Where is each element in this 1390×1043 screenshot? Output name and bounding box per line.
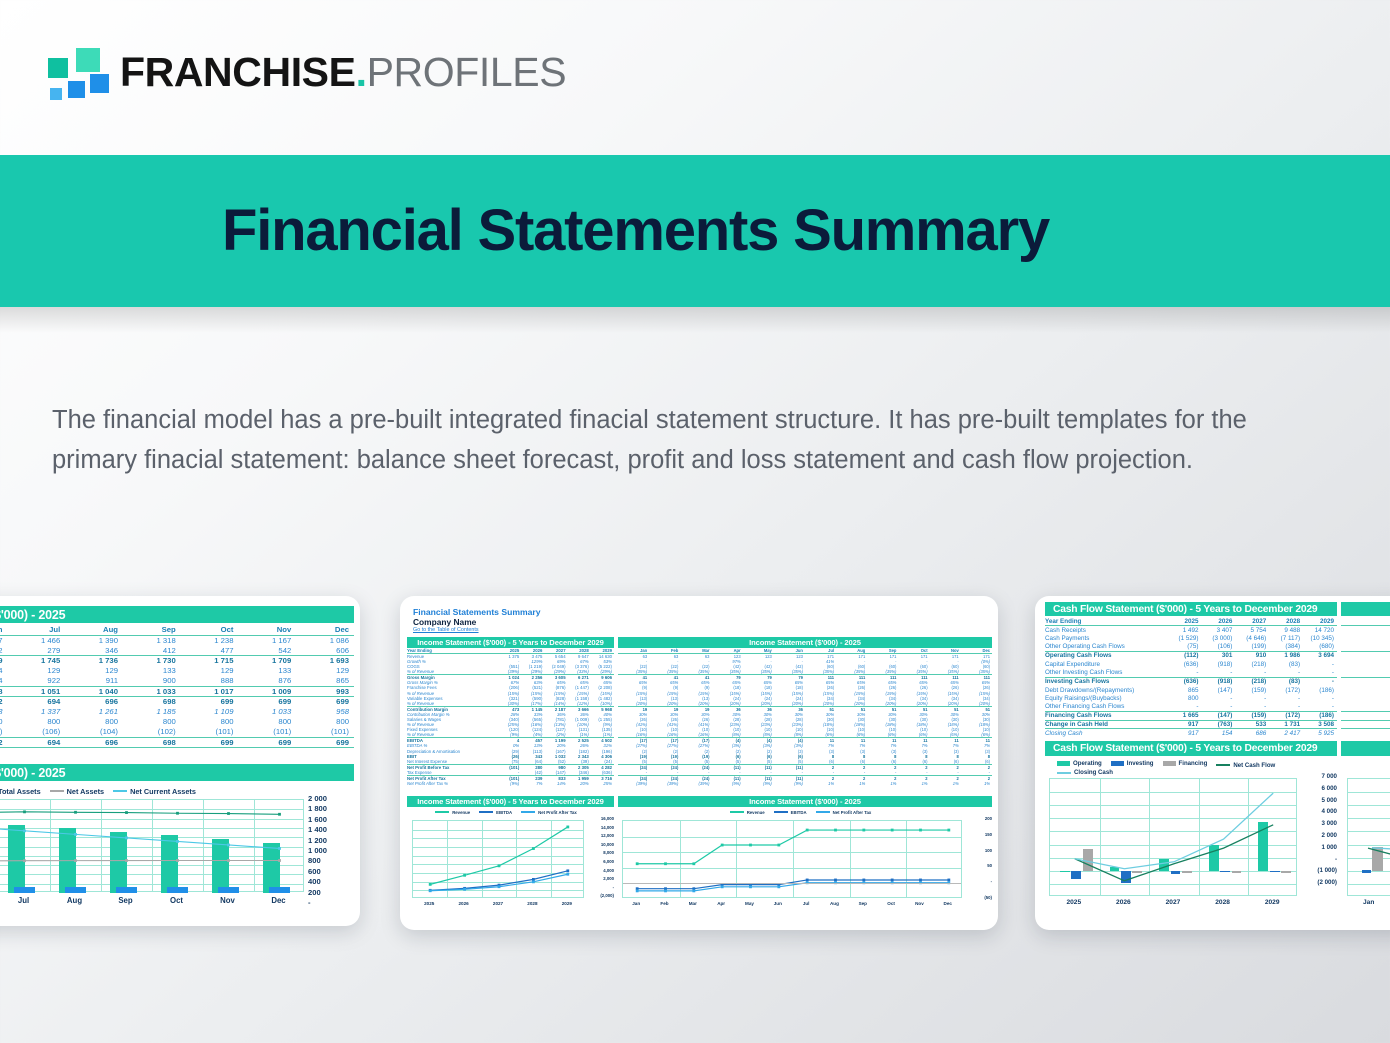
cash-flow-monthly-table: Jan32(47)(7)(22)(36)-(36)989800-1 7891 7… bbox=[1341, 617, 1390, 737]
legend-swatch bbox=[1216, 764, 1230, 766]
legend-label: Financing bbox=[1179, 760, 1208, 767]
table-cell: 25% bbox=[591, 781, 614, 786]
legend-label: Revenue bbox=[452, 810, 470, 815]
income-statement-5y-chart-legend: RevenueEBITDANet Profit After Tax bbox=[407, 809, 614, 815]
table-row: 1 731 bbox=[1341, 720, 1390, 729]
row-label: Net Profit After Tax % bbox=[407, 781, 498, 786]
table-cell: (101) bbox=[181, 727, 239, 737]
table-cell: Sep bbox=[123, 625, 181, 635]
axis-tick: 800 bbox=[308, 856, 352, 866]
table-cell: (186) bbox=[1303, 686, 1337, 695]
table-cell: (159) bbox=[1235, 712, 1269, 721]
series-layer bbox=[623, 821, 961, 897]
table-cell: 800 bbox=[1168, 694, 1202, 703]
legend-swatch bbox=[521, 811, 535, 813]
axis-tick: Feb bbox=[650, 901, 678, 906]
table-cell: 154 bbox=[1202, 729, 1236, 738]
table-row: 1 0451 0381 0511 0401 0331 0171 009993 bbox=[0, 686, 354, 696]
legend-item: EBITDA bbox=[774, 810, 807, 815]
balance-sheet-x-axis-labels: MayJunJulAugSepOctNovDec bbox=[0, 896, 304, 905]
franchise-profiles-logo-icon bbox=[48, 48, 110, 100]
table-cell: 694 bbox=[8, 737, 66, 747]
axis-tick: 2025 bbox=[1049, 899, 1099, 906]
income-statement-monthly-x-axis-labels: JanFebMarAprMayJunJulAugSepOctNovDec bbox=[622, 901, 962, 906]
table-cell: Jun bbox=[0, 625, 8, 635]
summary-sheet-title: Financial Statements Summary bbox=[413, 607, 541, 617]
cash-flow-y-axis-labels: 7 0006 0005 0004 0003 0002 0001 000-(1 0… bbox=[1301, 773, 1337, 891]
axis-tick: 2 000 bbox=[308, 794, 352, 804]
financial-summary-screenshot-card: Financial Statements Summary Company Nam… bbox=[400, 596, 998, 930]
table-cell: 1% bbox=[898, 781, 929, 786]
table-cell: 346 bbox=[65, 645, 123, 655]
axis-tick: Oct bbox=[877, 901, 905, 906]
axis-tick: - bbox=[586, 885, 614, 894]
table-cell: - bbox=[1235, 669, 1269, 678]
axis-tick: Apr bbox=[707, 901, 735, 906]
table-cell: (36) bbox=[1341, 660, 1390, 669]
table-cell: 3 407 bbox=[1202, 626, 1236, 635]
series-layer bbox=[1348, 779, 1390, 895]
table-cell: 32 bbox=[1341, 626, 1390, 635]
table-cell: 1 517 bbox=[0, 635, 8, 645]
row-label: Capital Expenditure bbox=[1045, 660, 1168, 669]
legend-swatch bbox=[816, 811, 830, 813]
table-cell: 1 729 bbox=[0, 656, 8, 666]
row-label: Closing Cash bbox=[1045, 729, 1168, 738]
legend-label: Net Profit After Tax bbox=[538, 810, 577, 815]
table-cell: - bbox=[1303, 669, 1337, 678]
table-cell: 412 bbox=[123, 645, 181, 655]
table-row: (36) bbox=[1341, 677, 1390, 686]
table-cell: 129 bbox=[8, 666, 66, 676]
table-cell: (384) bbox=[1269, 643, 1303, 652]
table-row: 703692694696698699699699 bbox=[0, 696, 354, 706]
axis-tick: 2029 bbox=[1247, 899, 1297, 906]
table-cell: 133 bbox=[239, 666, 297, 676]
table-cell: 1 731 bbox=[1341, 720, 1390, 729]
table-cell: 7% bbox=[521, 781, 544, 786]
table-cell: 699 bbox=[239, 737, 297, 747]
table-cell: 800 bbox=[8, 717, 66, 727]
axis-tick: 600 bbox=[308, 867, 352, 877]
table-cell: (147) bbox=[1202, 686, 1236, 695]
table-cell: 1% bbox=[961, 781, 992, 786]
axis-tick: 2 000 bbox=[1301, 832, 1337, 844]
table-cell: Oct bbox=[181, 625, 239, 635]
body-paragraph: The financial model has a pre-built inte… bbox=[52, 400, 1332, 480]
legend-item: Revenue bbox=[435, 810, 470, 815]
table-cell: 1 033 bbox=[239, 707, 297, 717]
row-label: Other Financing Cash Flows bbox=[1045, 703, 1168, 712]
legend-swatch bbox=[1057, 772, 1071, 774]
table-cell: 696 bbox=[65, 696, 123, 706]
axis-tick: (2,000) bbox=[586, 893, 614, 902]
axis-tick: 5 000 bbox=[1301, 797, 1337, 809]
table-cell: 3 508 bbox=[1303, 720, 1337, 729]
income-statement-monthly-chart-title: Income Statement ($'000) - 2025 bbox=[618, 796, 992, 807]
legend-swatch bbox=[1111, 761, 1124, 766]
table-cell: (83) bbox=[1269, 660, 1303, 669]
table-cell: Jan bbox=[1341, 617, 1390, 626]
table-cell: 1 986 bbox=[1269, 651, 1303, 660]
cash-flow-table: Year Ending20252026202720282029Cash Rece… bbox=[1045, 617, 1337, 737]
legend-item: Net Assets bbox=[50, 787, 104, 796]
table-cell: 698 bbox=[123, 696, 181, 706]
axis-tick: 2025 bbox=[412, 901, 446, 906]
income-statement-monthly-chart-plot bbox=[622, 820, 962, 898]
income-statement-5y-table: Year Ending20252026202720282029Revenue1 … bbox=[407, 648, 614, 786]
legend-item: Total Assets bbox=[0, 787, 41, 796]
table-cell: 1 715 bbox=[181, 656, 239, 666]
table-cell: 5 754 bbox=[1235, 626, 1269, 635]
cash-flow-chart-title-continued bbox=[1341, 741, 1390, 756]
axis-tick: 8,000 bbox=[586, 850, 614, 859]
cash-flow-monthly-chart-plot bbox=[1347, 778, 1390, 896]
table-cell: 1 789 bbox=[1341, 712, 1390, 721]
row-label: Cash Receipts bbox=[1045, 626, 1168, 635]
table-cell: (1 529) bbox=[1168, 634, 1202, 643]
table-cell: 692 bbox=[0, 696, 8, 706]
table-cell: (147) bbox=[1202, 712, 1236, 721]
table-cell: 910 bbox=[1235, 651, 1269, 660]
legend-label: EBITDA bbox=[496, 810, 512, 815]
table-row: Investing Cash Flows(636)(918)(218)(83)- bbox=[1045, 677, 1337, 686]
table-row: - bbox=[1341, 669, 1390, 678]
table-cell: 865 bbox=[1168, 686, 1202, 695]
table-cell: 699 bbox=[296, 696, 354, 706]
axis-tick: - bbox=[964, 879, 992, 895]
table-cell: (680) bbox=[1303, 643, 1337, 652]
cash-flow-table-title: Cash Flow Statement ($'000) - 5 Years to… bbox=[1045, 602, 1337, 616]
axis-tick: May bbox=[735, 901, 763, 906]
brand-header: FRANCHISE.PROFILES bbox=[0, 0, 1390, 148]
table-cell: 694 bbox=[8, 696, 66, 706]
table-cell: (102) bbox=[123, 727, 181, 737]
table-cell: 2028 bbox=[1269, 617, 1303, 626]
legend-item: Investing bbox=[1111, 760, 1154, 767]
axis-tick: (1 000) bbox=[1301, 867, 1337, 879]
table-cell: (104) bbox=[65, 727, 123, 737]
axis-tick: 14,000 bbox=[586, 825, 614, 834]
table-cell: 800 bbox=[0, 717, 8, 727]
table-cell: 5 925 bbox=[1303, 729, 1337, 738]
row-label: Year Ending bbox=[1045, 617, 1168, 626]
axis-tick: Aug bbox=[820, 901, 848, 906]
table-cell: 1% bbox=[836, 781, 867, 786]
table-cell: 9 488 bbox=[1269, 626, 1303, 635]
brand-name-bold: FRANCHISE bbox=[120, 49, 356, 95]
table-cell: 14% bbox=[544, 781, 567, 786]
axis-tick: 2028 bbox=[515, 901, 549, 906]
legend-swatch bbox=[1057, 761, 1070, 766]
table-cell: 2025 bbox=[1168, 617, 1202, 626]
table-cell: 800 bbox=[1341, 694, 1390, 703]
table-cell: 692 bbox=[0, 737, 8, 747]
legend-item: Financing bbox=[1163, 760, 1208, 767]
table-cell: 2027 bbox=[1235, 617, 1269, 626]
table-cell: (9%) bbox=[774, 781, 805, 786]
table-row: Capital Expenditure(636)(918)(218)(83)- bbox=[1045, 660, 1337, 669]
cash-flow-chart-legend: OperatingInvestingFinancingNet Cash Flow… bbox=[1057, 760, 1332, 776]
table-cell: (918) bbox=[1202, 677, 1236, 686]
table-cell: 1 033 bbox=[123, 686, 181, 696]
table-cell: 1% bbox=[805, 781, 836, 786]
income-statement-5y-x-axis-labels: 20252026202720282029 bbox=[412, 901, 584, 906]
table-cell: (10 345) bbox=[1303, 634, 1337, 643]
table-cell: - bbox=[1303, 694, 1337, 703]
table-cell: 917 bbox=[1168, 729, 1202, 738]
axis-tick: Jun bbox=[764, 901, 792, 906]
table-row: MayJunJulAugSepOctNovDec bbox=[0, 625, 354, 635]
table-cell: 1 038 bbox=[0, 686, 8, 696]
table-cell: - bbox=[1303, 660, 1337, 669]
brand-wordmark: FRANCHISE.PROFILES bbox=[120, 44, 566, 100]
table-cell: 800 bbox=[239, 717, 297, 727]
axis-tick: 4,000 bbox=[586, 868, 614, 877]
table-cell: (39%) bbox=[680, 781, 711, 786]
table-cell: 2026 bbox=[1202, 617, 1236, 626]
table-cell: 1 261 bbox=[65, 707, 123, 717]
table-cell: 1 009 bbox=[239, 686, 297, 696]
table-cell: (106) bbox=[8, 727, 66, 737]
table-row: 800800800800800800800800 bbox=[0, 717, 354, 727]
table-row: Financing Cash Flows1 665(147)(159)(172)… bbox=[1045, 712, 1337, 721]
axis-tick: 1 800 bbox=[308, 804, 352, 814]
axis-tick: - bbox=[308, 898, 352, 908]
table-row: (7) bbox=[1341, 643, 1390, 652]
table-cell: 1 665 bbox=[1168, 712, 1202, 721]
table-cell: 1 745 bbox=[8, 656, 66, 666]
table-cell: 1 736 bbox=[65, 656, 123, 666]
table-cell: 1 040 bbox=[65, 686, 123, 696]
legend-label: Net Current Assets bbox=[130, 787, 196, 796]
brand-name-light: PROFILES bbox=[367, 49, 567, 95]
legend-item: Net Cash Flow bbox=[1216, 762, 1275, 769]
table-cell: 2 417 bbox=[1269, 729, 1303, 738]
cash-flow-chart-plot bbox=[1049, 778, 1297, 896]
table-cell: 133 bbox=[123, 666, 181, 676]
axis-tick: Sep bbox=[849, 901, 877, 906]
table-cell: 1 109 bbox=[181, 707, 239, 717]
table-cell: 900 bbox=[123, 676, 181, 686]
table-cell: 301 bbox=[1202, 651, 1236, 660]
table-row: Jan bbox=[1341, 617, 1390, 626]
table-cell: 1 492 bbox=[1168, 626, 1202, 635]
table-row: Cash Payments(1 529)(3 000)(4 646)(7 117… bbox=[1045, 634, 1337, 643]
row-label: Operating Cash Flows bbox=[1045, 651, 1168, 660]
axis-tick: 50 bbox=[964, 863, 992, 879]
table-cell: 800 bbox=[181, 717, 239, 727]
table-row: Net Profit After Tax %(9%)7%14%20%25% bbox=[407, 781, 614, 786]
table-row: Other Investing Cash Flows----- bbox=[1045, 669, 1337, 678]
table-row: Debt Drawdowns/(Repayments)865(147)(159)… bbox=[1045, 686, 1337, 695]
axis-tick: 2028 bbox=[1198, 899, 1248, 906]
axis-tick: 1 000 bbox=[1301, 844, 1337, 856]
table-cell: - bbox=[1341, 669, 1390, 678]
axis-tick: Dec bbox=[253, 896, 304, 905]
axis-tick: 7 000 bbox=[1301, 773, 1337, 785]
axis-tick: 1 000 bbox=[308, 846, 352, 856]
income-statement-monthly-y-axis-labels: 20015010050-(50) bbox=[964, 816, 992, 911]
row-label: Other Investing Cash Flows bbox=[1045, 669, 1168, 678]
table-cell: 3 694 bbox=[1303, 651, 1337, 660]
legend-swatch bbox=[479, 811, 493, 813]
cash-flow-monthly-x-axis-label: Jan bbox=[1347, 899, 1390, 906]
legend-swatch bbox=[435, 811, 449, 813]
table-cell: - bbox=[1269, 669, 1303, 678]
table-cell: 104 bbox=[0, 666, 8, 676]
income-statement-monthly-chart-legend: RevenueEBITDANet Profit After Tax bbox=[618, 809, 992, 815]
table-cell: 698 bbox=[123, 737, 181, 747]
legend-label: Net Cash Flow bbox=[1233, 762, 1275, 769]
table-cell: 1 390 bbox=[65, 635, 123, 645]
table-cell: (9%) bbox=[743, 781, 774, 786]
table-row: Other Financing Cash Flows----- bbox=[1045, 703, 1337, 712]
legend-item: EBITDA bbox=[479, 810, 512, 815]
axis-tick: Sep bbox=[100, 896, 151, 905]
legend-item: Closing Cash bbox=[1057, 769, 1113, 776]
table-row: Closing Cash9171546862 4175 925 bbox=[1045, 729, 1337, 738]
table-cell: 800 bbox=[296, 717, 354, 727]
table-cell: (199) bbox=[1235, 643, 1269, 652]
table-cell: 1 731 bbox=[1341, 729, 1390, 738]
table-cell: 699 bbox=[239, 696, 297, 706]
legend-swatch bbox=[50, 790, 64, 792]
title-banner: Financial Statements Summary bbox=[0, 155, 1390, 307]
table-cell: 1 238 bbox=[181, 635, 239, 645]
balance-sheet-chart-legend: Current LiabilitiesTotal AssetsNet Asset… bbox=[0, 785, 354, 796]
table-cell: 800 bbox=[123, 717, 181, 727]
table-cell: 865 bbox=[296, 676, 354, 686]
legend-swatch bbox=[113, 790, 127, 792]
table-cell: 1 730 bbox=[123, 656, 181, 666]
table-row: (22) bbox=[1341, 651, 1390, 660]
table-cell: (172) bbox=[1269, 686, 1303, 695]
legend-item: Revenue bbox=[730, 810, 765, 815]
balance-sheet-chart-title: Balance Sheet ($'000) - 2025 bbox=[0, 764, 354, 781]
legend-label: Net Profit After Tax bbox=[833, 810, 872, 815]
balance-sheet-chart-plot bbox=[0, 799, 304, 892]
table-cell: (75) bbox=[1168, 643, 1202, 652]
cash-flow-screenshot-card: Cash Flow Statement ($'000) - 5 Years to… bbox=[1035, 596, 1390, 930]
table-cell: 542 bbox=[239, 645, 297, 655]
table-cell: 1 017 bbox=[181, 686, 239, 696]
legend-swatch bbox=[774, 811, 788, 813]
legend-swatch bbox=[730, 811, 744, 813]
table-cell: Aug bbox=[65, 625, 123, 635]
income-statement-5y-title: Income Statement ($'000) - 5 Years to De… bbox=[407, 637, 614, 648]
summary-company-name: Company Name bbox=[413, 617, 476, 627]
axis-tick: Jan bbox=[622, 901, 650, 906]
table-cell: (106) bbox=[1202, 643, 1236, 652]
table-cell: 1 318 bbox=[123, 635, 181, 645]
axis-tick: 1 200 bbox=[308, 836, 352, 846]
table-cell: (9%) bbox=[711, 781, 742, 786]
table-row: 1 4711 4131 3371 2611 1851 1091 033958 bbox=[0, 707, 354, 717]
table-cell: 993 bbox=[296, 686, 354, 696]
table-cell: 934 bbox=[0, 676, 8, 686]
row-label: Financing Cash Flows bbox=[1045, 712, 1168, 721]
table-cell: 958 bbox=[296, 707, 354, 717]
table-row: 178212279346412477542606 bbox=[0, 645, 354, 655]
table-row: 703692694696698699699699 bbox=[0, 737, 354, 747]
table-cell: - bbox=[1269, 694, 1303, 703]
table-cell: - bbox=[1202, 703, 1236, 712]
legend-label: Operating bbox=[1073, 760, 1102, 767]
table-cell: 876 bbox=[239, 676, 297, 686]
table-cell: 1 337 bbox=[8, 707, 66, 717]
axis-tick: (50) bbox=[964, 895, 992, 911]
axis-tick: 2026 bbox=[1099, 899, 1149, 906]
table-cell: 989 bbox=[1341, 686, 1390, 695]
table-of-contents-link[interactable]: Go to the Table of Contents bbox=[413, 627, 479, 633]
income-statement-monthly-table: JanFebMarAprMayJunJulAugSepOctNovDec6363… bbox=[618, 648, 992, 786]
table-cell: - bbox=[1202, 694, 1236, 703]
table-row: 101104129129133129133129 bbox=[0, 666, 354, 676]
table-row: (39%)(39%)(39%)(9%)(9%)(9%)1%1%1%1%1%1% bbox=[618, 781, 992, 786]
axis-tick: 400 bbox=[308, 877, 352, 887]
table-row: 1 5711 5171 4661 3901 3181 2381 1671 086 bbox=[0, 635, 354, 645]
table-cell: 279 bbox=[8, 645, 66, 655]
row-label: Debt Drawdowns/(Repayments) bbox=[1045, 686, 1168, 695]
legend-item: Net Profit After Tax bbox=[816, 810, 872, 815]
table-row: 32 bbox=[1341, 626, 1390, 635]
table-cell: (636) bbox=[1168, 677, 1202, 686]
balance-sheet-table: MayJunJulAugSepOctNovDec1 5711 5171 4661… bbox=[0, 625, 354, 748]
axis-tick: 10,000 bbox=[586, 842, 614, 851]
table-cell: (4 646) bbox=[1235, 634, 1269, 643]
axis-tick: 200 bbox=[308, 888, 352, 898]
axis-tick: Aug bbox=[49, 896, 100, 905]
axis-tick: Dec bbox=[934, 901, 962, 906]
table-cell: Jul bbox=[8, 625, 66, 635]
table-cell: 20% bbox=[568, 781, 591, 786]
cash-flow-table-title-continued bbox=[1341, 602, 1390, 616]
brand-name-dot: . bbox=[356, 49, 367, 95]
axis-tick: 100 bbox=[964, 848, 992, 864]
cash-flow-x-axis-labels: 20252026202720282029 bbox=[1049, 899, 1297, 906]
legend-label: EBITDA bbox=[791, 810, 807, 815]
table-cell: 14 720 bbox=[1303, 626, 1337, 635]
axis-tick: 200 bbox=[964, 816, 992, 832]
table-cell: 129 bbox=[296, 666, 354, 676]
table-cell: 699 bbox=[181, 696, 239, 706]
table-row: 1 731 bbox=[1341, 729, 1390, 738]
series-layer bbox=[1050, 779, 1296, 895]
table-cell: - bbox=[1235, 694, 1269, 703]
axis-tick: 2027 bbox=[481, 901, 515, 906]
table-cell: (83) bbox=[1269, 677, 1303, 686]
row-label: Investing Cash Flows bbox=[1045, 677, 1168, 686]
axis-tick: 16,000 bbox=[586, 816, 614, 825]
table-cell: 911 bbox=[65, 676, 123, 686]
table-cell: 1% bbox=[867, 781, 898, 786]
table-cell: 1 693 bbox=[296, 656, 354, 666]
axis-tick: 1 600 bbox=[308, 815, 352, 825]
table-cell: 1 731 bbox=[1269, 720, 1303, 729]
table-cell: - bbox=[1235, 703, 1269, 712]
table-cell: 1 167 bbox=[239, 635, 297, 645]
income-statement-5y-chart-title: Income Statement ($'000) - 5 Years to De… bbox=[407, 796, 614, 807]
table-row: 945934922911900888876865 bbox=[0, 676, 354, 686]
zero-line bbox=[623, 883, 961, 884]
table-cell: 1 185 bbox=[123, 707, 181, 717]
row-label: Equity Raisings/(Buybacks) bbox=[1045, 694, 1168, 703]
income-statement-5y-y-axis-labels: 16,00014,00012,00010,0008,0006,0004,0002… bbox=[586, 816, 614, 902]
income-statement-5y-chart-plot bbox=[412, 820, 584, 898]
axis-tick: 1 400 bbox=[308, 825, 352, 835]
table-cell: 1 051 bbox=[8, 686, 66, 696]
